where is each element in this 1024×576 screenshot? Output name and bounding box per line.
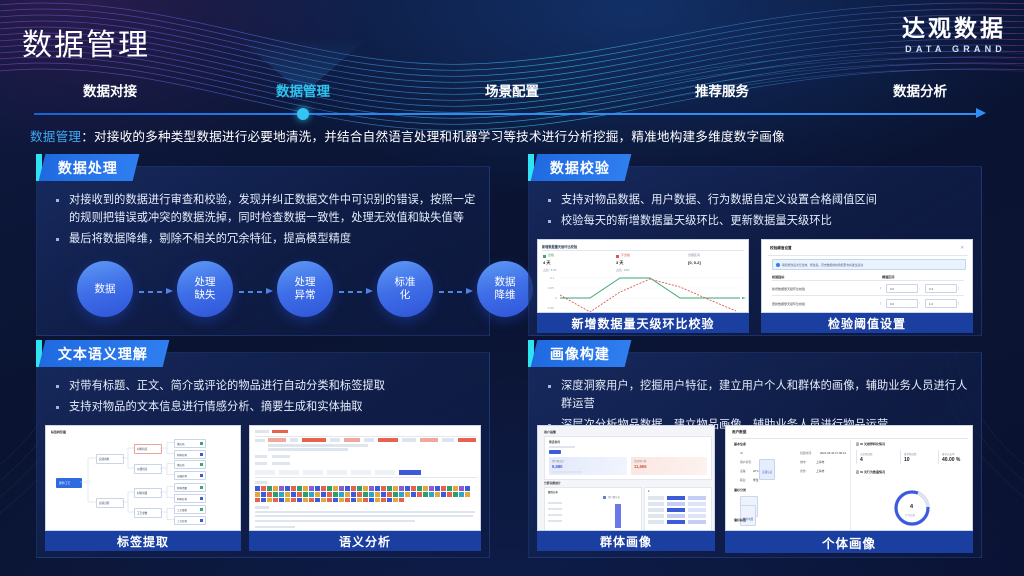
group-screen-title: 用户画像 — [544, 430, 556, 434]
thumbnail-group-portrait[interactable]: 用户画像 筛选条件 用户数总计 5,580 活跃用户数 11,665 — [537, 425, 715, 551]
donut-center-value: 4 — [910, 504, 913, 510]
flow-node-label-2: 化 — [395, 289, 416, 302]
stat-card-active-users: 活跃用户数 11,665 — [631, 457, 707, 475]
nav-item-data-docking[interactable]: 数据对接 — [83, 80, 137, 100]
card-title-tag-portrait-building: 画像构建 — [528, 340, 628, 367]
chart-panel-title: 属性分布 — [548, 490, 558, 494]
nav-item-data-analysis[interactable]: 数据分析 — [893, 80, 947, 100]
card-data-validation: 数据校验 支持对物品数据、用户数据、行为数据自定义设置合格阈值区间 校验每天的新… — [528, 166, 982, 336]
filter-chip[interactable] — [549, 450, 561, 454]
row-max-input[interactable]: 0.4 — [925, 284, 957, 293]
card-title-text-semantics: 文本语义理解 — [58, 344, 148, 364]
thumbnail-semantic-analysis[interactable]: 语义分析 — [249, 425, 481, 551]
filter-section-label: 筛选条件 — [549, 440, 560, 444]
card-title-data-processing: 数据处理 — [58, 158, 118, 178]
card-title-data-validation: 数据校验 — [550, 158, 610, 178]
flow-node-label: 处理 — [295, 276, 316, 289]
brand-name-cn: 达观数据 — [902, 16, 1006, 41]
card-title-tag-data-processing: 数据处理 — [36, 154, 136, 181]
bullet-list-data-validation: 支持对物品数据、用户数据、行为数据自定义设置合格阈值区间 校验每天的新增数据量天… — [545, 191, 969, 233]
row-metric-name: 新增数据量天级环比校验 — [772, 287, 805, 291]
axis-active-dot — [297, 108, 309, 120]
row-max-input[interactable]: 1.0 — [925, 299, 957, 308]
bar-legend-label: 用户数分布 — [608, 495, 620, 499]
card-title-tag-text-semantics: 文本语义理解 — [36, 340, 166, 367]
column-header-metric: 校验指标 — [772, 274, 784, 279]
flow-node-data: 数据 — [77, 261, 133, 317]
bullet-item: 深度洞察用户，挖掘用户特征，建立用户个人和群体的画像，辅助业务人员进行人群运营 — [545, 377, 969, 413]
subtitle-keyword: 数据管理 — [30, 130, 81, 144]
tree-connectors — [46, 426, 241, 531]
highlighted-entities-row — [268, 438, 476, 442]
flow-arrow-icon — [139, 288, 173, 296]
card-title-tag-data-validation: 数据校验 — [528, 154, 628, 181]
thumbnail-caption-threshold-settings: 检验阈值设置 — [761, 313, 973, 333]
dialog-notice-text: 阈值修改后次日生效，修改后，历史数据的校验结果也将发生变动 — [782, 263, 863, 267]
card-text-semantics: 文本语义理解 对带有标题、正文、简介或评论的物品进行自动分类和标签提取 支持对物… — [36, 352, 490, 558]
thumbnail-caption-tag-extraction: 标签提取 — [45, 531, 241, 551]
group-section-label: 分群画像统计 — [544, 481, 561, 485]
flow-node-standardize: 标准 化 — [377, 261, 433, 317]
bar-chart-panel: 属性分布 用户数分布 — [544, 487, 642, 531]
thumbnail-caption-daily-growth: 新增数据量天级环比校验 — [537, 313, 749, 333]
data-processing-flow-diagram: 数据 处理 缺失 处理 异常 — [45, 261, 481, 327]
subtitle-text: ：对接收的多种类型数据进行必要地清洗，并结合自然语言处理和机器学习等技术进行分析… — [81, 130, 785, 144]
input-value: 0.4 — [929, 287, 933, 291]
thumbnail-image[interactable]: 用户数据 基本信息 ID: 创建时间: 2021-06-30 17:06:14 … — [725, 425, 973, 531]
progress-axis — [34, 113, 978, 115]
flow-node-dim-reduction: 数据 降维 — [477, 261, 533, 317]
tab-strip[interactable] — [255, 470, 477, 475]
bullet-item: 支持对物品数据、用户数据、行为数据自定义设置合格阈值区间 — [545, 191, 969, 209]
bullet-item: 校验每天的新增数据量天级环比、更新数据量天级环比 — [545, 212, 969, 230]
flow-node-label-2: 异常 — [295, 289, 316, 302]
row-metric-name: 更新数据量天级环比校验 — [772, 302, 805, 306]
colored-token-grid — [255, 486, 477, 502]
page-title: 数据管理 — [22, 20, 150, 64]
brand-logo: 达观数据 DATA GRAND — [902, 16, 1006, 54]
card-data-processing: 数据处理 对接收到的数据进行审查和校验，发现并纠正数据文件中可识别的错误，按照一… — [36, 166, 490, 336]
card-title-portrait-building: 画像构建 — [550, 344, 610, 364]
flow-node-label: 数据 — [495, 276, 516, 289]
svg-text:0.1: 0.1 — [550, 276, 555, 280]
flow-node-label-2: 降维 — [495, 289, 516, 302]
nav-item-data-management[interactable]: 数据管理 — [276, 80, 330, 100]
nav-item-recommend-service[interactable]: 推荐服务 — [695, 80, 749, 100]
behavior-donut-chart — [726, 426, 973, 531]
slide-subtitle: 数据管理：对接收的多种类型数据进行必要地清洗，并结合自然语言处理和机器学习等技术… — [30, 128, 785, 147]
bullet-item: 对带有标题、正文、简介或评论的物品进行自动分类和标签提取 — [53, 377, 477, 395]
thumbnail-daily-growth-check[interactable]: 新增数据量天级环比校验 合格 4 天 占比: 57% 不合格 3 天 — [537, 239, 749, 333]
flow-arrow-icon — [339, 288, 373, 296]
stat-value: 5,580 — [552, 464, 562, 469]
thumbnail-caption-semantic-analysis: 语义分析 — [249, 531, 481, 551]
line-chart-plot: 0.1 0.05 0 -0.05 — [538, 240, 749, 313]
bullet-item: 对接收到的数据进行审查和校验，发现并纠正数据文件中可识别的错误，按照一定的规则把… — [53, 191, 477, 227]
flow-arrow-icon — [439, 288, 473, 296]
dialog-title: 校验阈值设置 — [770, 246, 792, 251]
flow-node-label: 处理 — [195, 276, 216, 289]
dialog-close-icon[interactable]: ✕ — [960, 245, 964, 251]
bullet-list-data-processing: 对接收到的数据进行审查和校验，发现并纠正数据文件中可识别的错误，按照一定的规则把… — [53, 191, 477, 251]
input-value: 0.0 — [890, 287, 894, 291]
thumbnail-image[interactable]: 标签树形图 器件/工艺 实验用料 实验过程 材料供应 仪器供应 — [45, 425, 241, 531]
flow-node-label: 标准 — [395, 276, 416, 289]
input-value: 0.0 — [890, 302, 894, 306]
bullet-item: 最后将数据降维，剔除不相关的冗余特征，提高模型精度 — [53, 230, 477, 248]
stat-label: 活跃用户数 — [634, 459, 647, 463]
dialog-notice-banner: 阈值修改后次日生效，修改后，历史数据的校验结果也将发生变动 — [772, 259, 966, 270]
card-portrait-building: 画像构建 深度洞察用户，挖掘用户特征，建立用户个人和群体的画像，辅助业务人员进行… — [528, 352, 982, 558]
flow-node-missing: 处理 缺失 — [177, 261, 233, 317]
thumbnail-threshold-settings[interactable]: 校验阈值设置 ✕ 阈值修改后次日生效，修改后，历史数据的校验结果也将发生变动 校… — [761, 239, 973, 333]
slide-background: 数据管理 达观数据 DATA GRAND 数据对接 数据管理 场景配置 推荐服务… — [0, 0, 1024, 576]
input-value: 1.0 — [929, 302, 933, 306]
flow-node-anomaly: 处理 异常 — [277, 261, 333, 317]
thumbnail-caption-individual-portrait: 个体画像 — [725, 531, 973, 553]
svg-text:0.05: 0.05 — [548, 286, 554, 290]
thumbnail-individual-portrait[interactable]: 用户数据 基本信息 ID: 创建时间: 2021-06-30 17:06:14 … — [725, 425, 973, 553]
filter-panel: 筛选条件 用户数总计 5,580 活跃用户数 11,665 — [544, 436, 712, 480]
bullet-item: 支持对物品的文本信息进行情感分析、摘要生成和实体抽取 — [53, 398, 477, 416]
stat-label: 用户数总计 — [552, 459, 565, 463]
row-min-input[interactable]: 0.0 — [886, 299, 918, 308]
column-header-range: 阈值区间 — [882, 274, 894, 279]
stat-value: 11,665 — [634, 464, 647, 469]
svg-text:0: 0 — [555, 296, 557, 300]
svg-text:-0.05: -0.05 — [547, 306, 554, 310]
flow-arrow-icon — [239, 288, 273, 296]
step-navigation[interactable]: 数据对接 数据管理 场景配置 推荐服务 数据分析 — [0, 80, 1024, 126]
row-min-input[interactable]: 0.0 — [886, 284, 918, 293]
stat-card-total-users: 用户数总计 5,580 — [549, 457, 627, 475]
thumbnail-image[interactable] — [249, 425, 481, 531]
axis-arrow-icon — [976, 108, 986, 118]
donut-center-label: 行为总数 — [905, 513, 915, 517]
nav-item-scene-config[interactable]: 场景配置 — [485, 80, 539, 100]
thumbnail-tag-extraction[interactable]: 标签树形图 器件/工艺 实验用料 实验过程 材料供应 仪器供应 — [45, 425, 241, 551]
thumbnail-caption-group-portrait: 群体画像 — [537, 531, 715, 551]
brand-name-en: DATA GRAND — [902, 44, 1006, 54]
flow-node-label: 数据 — [95, 283, 116, 296]
bullet-list-text-semantics: 对带有标题、正文、简介或评论的物品进行自动分类和标签提取 支持对物品的文本信息进… — [53, 377, 477, 419]
thumbnail-image[interactable]: 新增数据量天级环比校验 合格 4 天 占比: 57% 不合格 3 天 — [537, 239, 749, 313]
info-icon — [776, 263, 780, 267]
thumbnail-image[interactable]: 校验阈值设置 ✕ 阈值修改后次日生效，修改后，历史数据的校验结果也将发生变动 校… — [761, 239, 973, 313]
thumbnail-image[interactable]: 用户画像 筛选条件 用户数总计 5,580 活跃用户数 11,665 — [537, 425, 715, 531]
flow-node-label-2: 缺失 — [195, 289, 216, 302]
attribute-table-panel: 2 — [644, 487, 712, 531]
